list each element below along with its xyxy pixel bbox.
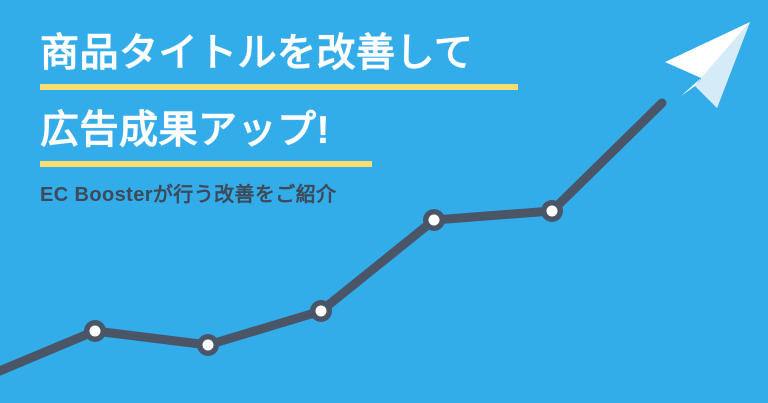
headline-line-2-text: 広告成果アップ!: [40, 103, 600, 159]
banner-subtitle: EC Boosterが行う改善をご紹介: [40, 181, 600, 209]
headline-underline-1: [40, 84, 518, 90]
headline-line-1: 商品タイトルを改善して: [40, 26, 600, 90]
headline-underline-2: [40, 161, 372, 167]
promo-banner: 商品タイトルを改善して 広告成果アップ! EC Boosterが行う改善をご紹介: [0, 0, 768, 403]
banner-text-block: 商品タイトルを改善して 広告成果アップ! EC Boosterが行う改善をご紹介: [40, 26, 600, 209]
headline-line-1-text: 商品タイトルを改善して: [40, 26, 600, 82]
headline-line-2: 広告成果アップ!: [40, 103, 600, 167]
